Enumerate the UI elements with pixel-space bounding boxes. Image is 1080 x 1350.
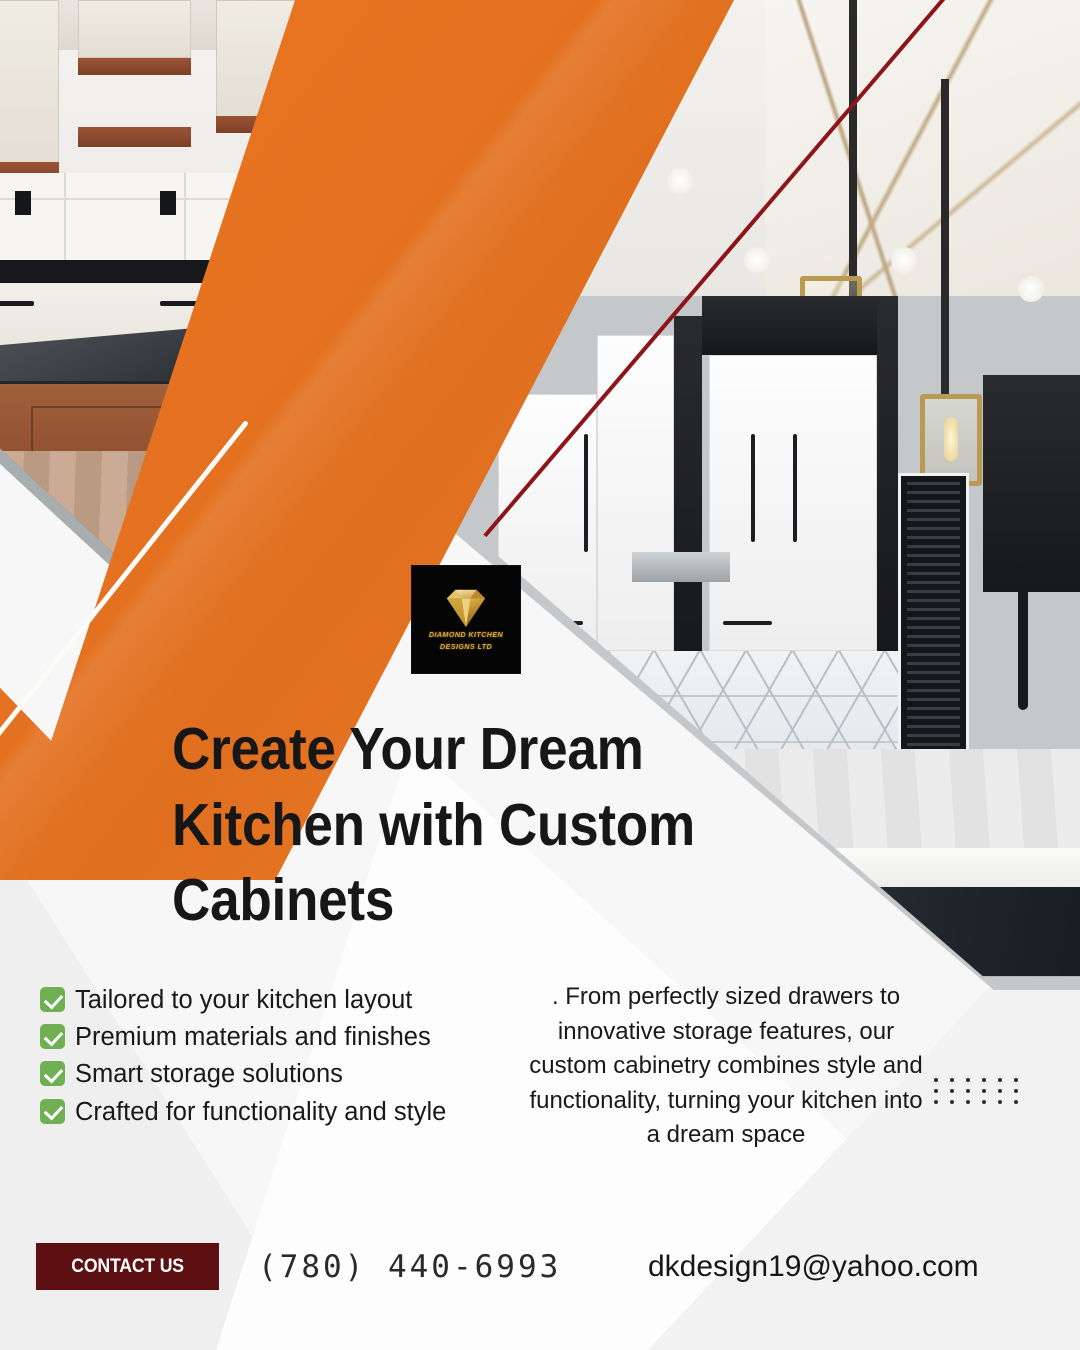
contact-us-badge[interactable]: CONTACT US: [36, 1243, 219, 1290]
check-mark-icon: [40, 987, 65, 1012]
feature-label: Tailored to your kitchen layout: [75, 982, 510, 1018]
feature-label: Premium materials and finishes: [75, 1019, 510, 1055]
logo-text-line-2: DESIGNS LTD: [440, 642, 492, 652]
logo-text-line-1: DIAMOND KITCHEN: [429, 630, 503, 640]
phone-number[interactable]: (780) 440-6993: [258, 1243, 561, 1290]
feature-label: Crafted for functionality and style: [75, 1094, 510, 1130]
brand-logo: DIAMOND KITCHEN DESIGNS LTD: [412, 566, 520, 673]
list-item: Crafted for functionality and style: [40, 1094, 510, 1130]
contact-us-label: CONTACT US: [71, 1256, 184, 1278]
diamond-icon: [438, 588, 494, 628]
feature-list: Tailored to your kitchen layout Premium …: [40, 982, 510, 1131]
check-mark-icon: [40, 1099, 65, 1124]
email-address[interactable]: dkdesign19@yahoo.com: [648, 1243, 979, 1290]
list-item: Premium materials and finishes: [40, 1019, 510, 1055]
list-item: Tailored to your kitchen layout: [40, 982, 510, 1018]
dot-grid-decoration: [934, 1078, 1030, 1104]
page-title: Create Your Dream Kitchen with Custom Ca…: [172, 712, 712, 939]
check-mark-icon: [40, 1061, 65, 1086]
poster-canvas: DIAMOND KITCHEN DESIGNS LTD Create Your …: [0, 0, 1080, 1350]
body-paragraph: . From perfectly sized drawers to innova…: [522, 980, 930, 1153]
feature-label: Smart storage solutions: [75, 1056, 510, 1092]
list-item: Smart storage solutions: [40, 1056, 510, 1092]
check-mark-icon: [40, 1024, 65, 1049]
